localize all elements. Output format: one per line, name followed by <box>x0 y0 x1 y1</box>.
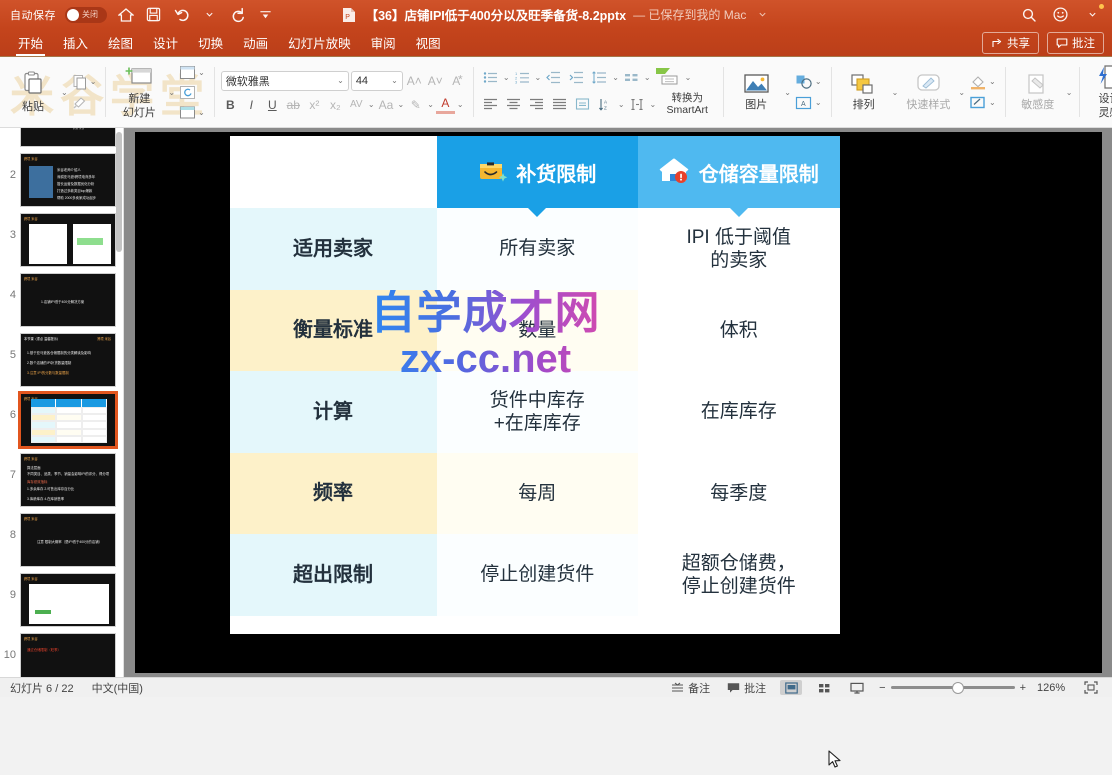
row-label-exceed-limit: 超出限制 <box>230 534 437 616</box>
header-storage-label: 仓储容量限制 <box>699 158 819 187</box>
comment-label: 批注 <box>1072 35 1095 51</box>
smartart-label-line1: 转换为 <box>671 92 703 104</box>
ribbon-toolbar: 米谷学堂 粘贴 ⌄ ⌄ 新建 幻灯片 ⌄ ⌄ <box>0 57 1112 128</box>
cell-storage-line1: IPI 低于阈值 <box>686 227 791 248</box>
font-name-dropdown-icon[interactable]: ⌄ <box>337 76 344 85</box>
thumbnail-item-1[interactable]: 1 店铺IPI低于400以及旺季备货方案 跨境 米谷 <box>0 128 123 150</box>
share-label: 共享 <box>1007 35 1030 51</box>
tab-slideshow[interactable]: 幻灯片放映 <box>278 30 361 55</box>
ribbon-actions: 共享 批注 <box>982 32 1104 54</box>
thumb-7-line-1: 算法层面 <box>27 465 41 470</box>
thumb-4-line-1: 1.店铺IPI低于400分解决方案 <box>41 299 84 304</box>
align-text-vertical-icon[interactable] <box>572 95 593 114</box>
cell-restock-applicable-sellers: 所有卖家 <box>437 208 639 290</box>
zoom-level-label[interactable]: 126% <box>1037 682 1069 694</box>
clear-formatting-icon[interactable]: A⃰ <box>447 72 466 90</box>
justify-icon[interactable] <box>549 95 570 114</box>
thumb-6-table-row <box>31 414 107 421</box>
share-button[interactable]: 共享 <box>982 32 1039 54</box>
sensitivity-group: 敏感度 ⌄ <box>1005 57 1080 127</box>
tab-review[interactable]: 审阅 <box>361 30 406 55</box>
svg-text:Z: Z <box>604 105 607 110</box>
document-name: 【36】店铺IPI低于400分以及旺季备货-8.2pptx <box>366 5 626 24</box>
character-spacing-icon[interactable]: AV <box>347 96 366 114</box>
smiley-account-icon[interactable] <box>1051 5 1070 24</box>
cell-storage-measure-standard: 体积 <box>638 290 840 372</box>
underline-button[interactable]: U <box>263 96 282 114</box>
thumbnail-item-9[interactable]: 9 跨境 米谷 <box>0 570 123 630</box>
font-row-bottom: B I U ab x² x₂ AV ⌄ Aa ⌄ ✎ ⌄ A ⌄ <box>221 96 466 114</box>
thumbnail-number-2: 2 <box>2 153 16 181</box>
thumbnail-preview-6[interactable]: 跨境 米谷 <box>20 393 116 447</box>
format-painter-button[interactable] <box>70 94 99 112</box>
status-bar: 幻灯片 6 / 22 中文(中国) 备注 批注 − + 126% <box>0 677 1112 697</box>
thumbnail-number-10: 10 <box>2 633 16 661</box>
thumbnail-preview-9[interactable]: 跨境 米谷 <box>20 573 116 627</box>
shape-fill-button[interactable]: ⌄ <box>967 73 998 91</box>
cell-restock-line2: +在库库存 <box>494 413 581 434</box>
new-slide-dropdown-icon[interactable]: ⌄ <box>168 88 175 97</box>
thumb-2-line-2: 深耕亚马逊/跨境电商多年 <box>57 174 95 179</box>
thumbnail-item-5[interactable]: 5 本节课（重点 温馨提示） 跨境 米谷 1.基于亚马逊各仓储限制的分类解读及影… <box>0 330 123 390</box>
thumb-6-table-row <box>31 407 107 414</box>
svg-text:3: 3 <box>515 80 518 84</box>
thumbnail-item-6[interactable]: 6 跨境 米谷 <box>0 390 123 450</box>
strikethrough-button[interactable]: ab <box>284 96 303 114</box>
thumb-5-caption: 跨境 米谷 <box>97 336 111 341</box>
cell-storage-exceed-line1: 超额仓储费， <box>682 553 796 574</box>
thumbnail-number-4: 4 <box>2 273 16 301</box>
tab-design[interactable]: 设计 <box>143 30 188 55</box>
language-indicator[interactable]: 中文(中国) <box>92 680 143 696</box>
copy-button[interactable]: ⌄ <box>70 73 99 91</box>
thumb-7-line-2: 不同类目、品类、季节、销量会影响IPI的评分、得分项 <box>27 471 109 476</box>
section-dropdown-icon[interactable]: ⌄ <box>198 108 205 117</box>
comment-button[interactable]: 批注 <box>1047 32 1104 54</box>
thumbnail-scrollbar[interactable] <box>115 128 123 677</box>
thumb-2-line-5: 帮助 2000多卖家成功起步 <box>57 195 96 200</box>
thumbnail-preview-5[interactable]: 本节课（重点 温馨提示） 跨境 米谷 1.基于亚马逊各仓储限制的分类解读及影响 … <box>20 333 116 387</box>
title-bar: 自动保存 关闭 P 【36】店铺IPI低于400分以及旺季备货-8.2pptx … <box>0 0 1112 29</box>
slide-editing-stage[interactable]: 补货限制 仓储容量限制 适用卖家 所有卖家 IPI 低于阈值 <box>124 128 1112 677</box>
picture-label: 图片 <box>745 99 767 111</box>
shape-outline-button[interactable]: ⌄ <box>967 94 998 112</box>
change-case-dropdown-icon[interactable]: ⌄ <box>398 100 405 109</box>
new-slide-button[interactable]: 新建 幻灯片 <box>112 63 166 122</box>
shapes-dropdown-icon[interactable]: ⌄ <box>815 77 822 86</box>
thumb-5-line-1: 本节课（重点 温馨提示） <box>24 336 60 341</box>
change-case-button[interactable]: Aa <box>377 96 396 114</box>
insert-small-buttons: ⌄ A ⌄ <box>793 73 824 112</box>
thumbnail-preview-1[interactable]: 店铺IPI低于400以及旺季备货方案 跨境 米谷 <box>20 128 116 147</box>
character-spacing-dropdown-icon[interactable]: ⌄ <box>368 100 375 109</box>
thumb-7-line-3: 库存绩效指标 <box>27 479 47 484</box>
comparison-table[interactable]: 补货限制 仓储容量限制 适用卖家 所有卖家 IPI 低于阈值 <box>230 136 840 634</box>
svg-text:P: P <box>345 14 350 21</box>
autosave-state-label: 关闭 <box>82 9 98 20</box>
quick-styles-label: 快速样式 <box>906 99 950 111</box>
header-empty-cell <box>230 136 437 208</box>
sensitivity-button[interactable]: 敏感度 <box>1012 71 1064 113</box>
table-row: 衡量标准 数量 体积 <box>230 290 840 372</box>
bullets-icon[interactable] <box>480 68 501 87</box>
smartart-icon[interactable] <box>653 68 683 87</box>
columns-icon[interactable] <box>621 68 642 87</box>
smartart-label-line2: SmartArt <box>667 104 708 116</box>
slide-options: ⌄ ⌄ <box>177 64 207 121</box>
table-row: 适用卖家 所有卖家 IPI 低于阈值 的卖家 <box>230 208 840 290</box>
convert-to-smartart-button[interactable]: 转换为 SmartArt <box>658 92 716 116</box>
reading-view-button[interactable] <box>846 680 868 695</box>
thumb-3-chat-bubble <box>77 238 103 245</box>
thumb-7-line-5: 3.库龄库存 4.在库销售率 <box>27 496 64 501</box>
thumb-1-sub: 跨境 米谷 <box>73 128 84 130</box>
cell-storage-exceed-limit: 超额仓储费， 停止创建货件 <box>638 534 840 616</box>
thumbnail-preview-8[interactable]: 跨境 米谷 注意 限制大概率（是IPI低于400分的店铺） <box>20 513 116 567</box>
sensitivity-label: 敏感度 <box>1021 99 1054 111</box>
comments-label: 批注 <box>744 680 766 696</box>
thumbnail-item-10[interactable]: 10 跨境 米谷 通过仓储限制（旺季） <box>0 630 123 677</box>
zoom-in-button[interactable]: + <box>1020 682 1026 694</box>
font-size-value: 44 <box>356 75 368 87</box>
autosave-label: 自动保存 <box>10 7 56 23</box>
thumb-5-line-3: 2.数个店铺的IPI补货数量限制 <box>27 360 71 365</box>
thumb-9-caption: 跨境 米谷 <box>24 576 38 581</box>
thumbnail-preview-7[interactable]: 跨境 米谷 算法层面 不同类目、品类、季节、销量会影响IPI的评分、得分项 库存… <box>20 453 116 507</box>
thumbnail-scroll-content: 1 店铺IPI低于400以及旺季备货方案 跨境 米谷 2 跨境 米谷 米谷老师介… <box>0 128 123 677</box>
bullets-dropdown-icon[interactable]: ⌄ <box>503 73 510 82</box>
text-direction-dropdown-icon[interactable]: ⌄ <box>650 100 657 109</box>
slide-thumbnail-panel[interactable]: 1 店铺IPI低于400以及旺季备货方案 跨境 米谷 2 跨境 米谷 米谷老师介… <box>0 128 124 677</box>
tab-insert[interactable]: 插入 <box>53 30 98 55</box>
current-slide[interactable]: 补货限制 仓储容量限制 适用卖家 所有卖家 IPI 低于阈值 <box>135 132 1102 673</box>
designer-label-line1: 设计 <box>1098 93 1112 105</box>
reset-slide-button[interactable] <box>177 84 207 101</box>
arrange-button[interactable]: 排列 <box>838 71 890 113</box>
thumbnail-scrollbar-thumb[interactable] <box>116 132 122 252</box>
font-color-button[interactable]: A <box>436 96 455 114</box>
thumb-9-screenshot <box>29 584 109 624</box>
package-box-icon <box>478 159 508 185</box>
bold-button[interactable]: B <box>221 96 240 114</box>
thumbnail-preview-4[interactable]: 跨境 米谷 1.店铺IPI低于400分解决方案 <box>20 273 116 327</box>
document-saved-status: — 已保存到我的 Mac <box>633 6 746 23</box>
shape-fill-dropdown-icon[interactable]: ⌄ <box>989 77 996 86</box>
header-restock-limit: 补货限制 <box>437 136 639 208</box>
cell-storage-exceed-line2: 停止创建货件 <box>682 576 796 597</box>
paste-label: 粘贴 <box>22 101 44 113</box>
zoom-out-button[interactable]: − <box>879 682 885 694</box>
thumb-6-table <box>31 399 107 443</box>
align-left-icon[interactable] <box>480 95 501 114</box>
autosave-toggle-knob <box>67 9 79 21</box>
shape-outline-dropdown-icon[interactable]: ⌄ <box>989 98 996 107</box>
font-size-dropdown-icon[interactable]: ⌄ <box>391 76 398 85</box>
line-spacing-icon[interactable] <box>589 68 610 87</box>
thumb-6-table-row <box>31 436 107 443</box>
header-storage-arrow <box>729 207 749 217</box>
row-label-frequency: 频率 <box>230 453 437 535</box>
font-name-value: 微软雅黑 <box>226 73 270 89</box>
warehouse-alert-icon <box>659 158 691 186</box>
quick-styles-button[interactable]: 快速样式 <box>900 71 956 113</box>
shrink-font-icon[interactable]: A˅ <box>426 72 445 90</box>
thumbnail-number-6: 6 <box>2 393 16 421</box>
autosave-toggle[interactable]: 关闭 <box>65 7 107 23</box>
sensitivity-dropdown-icon[interactable]: ⌄ <box>1066 88 1073 97</box>
row-label-measure-standard: 衡量标准 <box>230 290 437 372</box>
zoom-track[interactable] <box>891 686 1015 689</box>
font-color-dropdown-icon[interactable]: ⌄ <box>457 100 464 109</box>
section-button[interactable]: ⌄ <box>177 104 207 121</box>
thumb-5-line-4: 3.注意 IPI的分数与数量限制 <box>27 370 69 375</box>
table-header-row: 补货限制 仓储容量限制 <box>230 136 840 208</box>
row-label-applicable-sellers: 适用卖家 <box>230 208 437 290</box>
superscript-button[interactable]: x² <box>305 96 324 114</box>
thumb-2-line-1: 米谷老师介绍人 <box>57 167 81 172</box>
zoom-knob[interactable] <box>952 682 964 694</box>
font-size-input[interactable]: 44 ⌄ <box>351 71 403 91</box>
designer-group: 设计 灵感 <box>1079 57 1112 127</box>
tab-draw[interactable]: 绘图 <box>98 30 143 55</box>
account-dropdown-icon[interactable] <box>1083 5 1102 24</box>
subscript-button[interactable]: x₂ <box>326 96 345 114</box>
arrange-dropdown-icon[interactable]: ⌄ <box>892 88 899 97</box>
font-controls: 微软雅黑 ⌄ 44 ⌄ A˄ A˅ A⃰ B I U ab x² x₂ AV ⌄ <box>221 71 466 114</box>
thumb-2-line-4: 打造过多款类目top爆款 <box>57 188 92 193</box>
zoom-slider[interactable]: − + <box>879 682 1026 694</box>
new-slide-label-line2: 幻灯片 <box>123 107 156 119</box>
thumb-9-bar <box>35 610 51 614</box>
thumb-2-photo <box>29 166 53 198</box>
thumbnail-item-3[interactable]: 3 跨境 米谷 <box>0 210 123 270</box>
thumb-10-caption: 跨境 米谷 <box>24 636 38 641</box>
thumb-6-table-row <box>31 429 107 436</box>
text-box-dropdown-icon[interactable]: ⌄ <box>815 98 822 107</box>
clipboard-group: 粘贴 ⌄ ⌄ <box>0 57 105 127</box>
header-restock-label: 补货限制 <box>516 158 596 187</box>
tab-transitions[interactable]: 切换 <box>188 30 233 55</box>
thumb-3-caption: 跨境 米谷 <box>24 216 38 221</box>
row-label-calculation: 计算 <box>230 371 437 453</box>
redo-icon[interactable] <box>228 5 247 24</box>
numbering-icon[interactable]: 123 <box>512 68 533 87</box>
text-sort-icon[interactable]: AZ <box>595 95 616 114</box>
thumbnail-item-4[interactable]: 4 跨境 米谷 1.店铺IPI低于400分解决方案 <box>0 270 123 330</box>
decrease-indent-icon[interactable] <box>543 68 564 87</box>
ribbon-tab-bar: 开始 插入 绘图 设计 切换 动画 幻灯片放映 审阅 视图 共享 批注 <box>0 29 1112 57</box>
columns-dropdown-icon[interactable]: ⌄ <box>644 73 651 82</box>
thumb-8-line-1: 注意 限制大概率（是IPI低于400分的店铺） <box>37 539 102 544</box>
thumb-2-caption: 跨境 米谷 <box>24 156 38 161</box>
font-row-top: 微软雅黑 ⌄ 44 ⌄ A˄ A˅ A⃰ <box>221 71 466 91</box>
thumbnail-item-2[interactable]: 2 跨境 米谷 米谷老师介绍人 深耕亚马逊/跨境电商多年 擅长运营及数据优化分析… <box>0 150 123 210</box>
tab-view[interactable]: 视图 <box>406 30 451 55</box>
designer-button[interactable]: 设计 灵感 <box>1086 63 1112 122</box>
cell-restock-measure-standard: 数量 <box>437 290 639 372</box>
text-box-button[interactable]: A ⌄ <box>793 94 824 112</box>
title-bar-right <box>1019 5 1102 24</box>
svg-text:A: A <box>604 99 608 104</box>
drawing-group: 排列 ⌄ 快速样式 ⌄ ⌄ ⌄ <box>831 57 1005 127</box>
title-dropdown-icon[interactable] <box>753 5 772 24</box>
slide-sorter-button[interactable] <box>813 680 835 695</box>
slide-layout-button[interactable]: ⌄ <box>177 64 207 81</box>
thumbnail-number-9: 9 <box>2 573 16 601</box>
mouse-cursor <box>828 750 846 770</box>
tab-animations[interactable]: 动画 <box>233 30 278 55</box>
paragraph-controls: ⌄ 123 ⌄ ⌄ ⌄ <box>480 68 716 116</box>
quick-access-toolbar: 自动保存 关闭 <box>10 5 275 24</box>
text-sort-dropdown-icon[interactable]: ⌄ <box>618 100 625 109</box>
thumb-6-table-head <box>31 399 107 407</box>
thumb-10-line-1: 通过仓储限制（旺季） <box>27 647 61 652</box>
status-bar-right: 备注 批注 − + 126% <box>668 679 1102 697</box>
thumbnail-number-8: 8 <box>2 513 16 541</box>
thumb-4-caption: 跨境 米谷 <box>24 276 38 281</box>
thumbnail-number-7: 7 <box>2 453 16 481</box>
cell-restock-line1: 货件中库存 <box>490 390 585 411</box>
cell-restock-exceed-limit: 停止创建货件 <box>437 534 639 616</box>
thumb-6-table-row <box>31 421 107 428</box>
shape-format-buttons: ⌄ ⌄ <box>967 73 998 112</box>
thumb-3-screenshot-left <box>29 224 67 264</box>
header-storage-limit: 仓储容量限制 <box>638 136 840 208</box>
slide-counter: 幻灯片 6 / 22 <box>10 680 74 696</box>
table-row: 计算 货件中库存 +在库库存 在库库存 <box>230 371 840 453</box>
thumbnail-preview-2[interactable]: 跨境 米谷 米谷老师介绍人 深耕亚马逊/跨境电商多年 擅长运营及数据优化分析 打… <box>20 153 116 207</box>
main-area: 1 店铺IPI低于400以及旺季备货方案 跨境 米谷 2 跨境 米谷 米谷老师介… <box>0 128 1112 677</box>
cell-storage-calculation: 在库库存 <box>638 371 840 453</box>
powerpoint-doc-icon: P <box>340 5 359 24</box>
thumbnail-item-7[interactable]: 7 跨境 米谷 算法层面 不同类目、品类、季节、销量会影响IPI的评分、得分项 … <box>0 450 123 510</box>
highlight-dropdown-icon[interactable]: ⌄ <box>427 100 434 109</box>
cell-storage-applicable-sellers: IPI 低于阈值 的卖家 <box>638 208 840 290</box>
increase-indent-icon[interactable] <box>566 68 587 87</box>
cell-storage-line2: 的卖家 <box>710 250 767 271</box>
arrange-label: 排列 <box>853 99 875 111</box>
cell-restock-calculation: 货件中库存 +在库库存 <box>437 371 639 453</box>
thumbnail-item-8[interactable]: 8 跨境 米谷 注意 限制大概率（是IPI低于400分的店铺） <box>0 510 123 570</box>
fit-slide-button[interactable] <box>1080 680 1102 695</box>
insert-group: 图片 ⌄ ⌄ A ⌄ <box>723 57 830 127</box>
comments-button[interactable]: 批注 <box>724 679 769 697</box>
font-group: 微软雅黑 ⌄ 44 ⌄ A˄ A˅ A⃰ B I U ab x² x₂ AV ⌄ <box>214 57 473 127</box>
thumb-8-caption: 跨境 米谷 <box>24 516 38 521</box>
new-slide-label-line1: 新建 <box>128 93 150 105</box>
table-row: 超出限制 停止创建货件 超额仓储费， 停止创建货件 <box>230 534 840 616</box>
search-icon[interactable] <box>1019 5 1038 24</box>
text-direction-icon[interactable] <box>627 95 648 114</box>
clipboard-small-buttons: ⌄ <box>70 73 99 112</box>
thumbnail-preview-10[interactable]: 跨境 米谷 通过仓储限制（旺季） <box>20 633 116 677</box>
picture-button[interactable]: 图片 <box>730 71 782 113</box>
normal-view-button[interactable] <box>780 680 802 695</box>
grow-font-icon[interactable]: A˄ <box>405 72 424 90</box>
line-spacing-dropdown-icon[interactable]: ⌄ <box>612 73 619 82</box>
notes-button[interactable]: 备注 <box>668 679 713 697</box>
thumb-7-caption: 跨境 米谷 <box>24 456 38 461</box>
tab-home[interactable]: 开始 <box>8 30 53 55</box>
cell-restock-frequency: 每周 <box>437 453 639 535</box>
thumbnail-number-5: 5 <box>2 333 16 361</box>
svg-text:A: A <box>801 101 806 108</box>
align-right-icon[interactable] <box>526 95 547 114</box>
paragraph-row-top: ⌄ 123 ⌄ ⌄ ⌄ <box>480 68 716 87</box>
notes-label: 备注 <box>688 680 710 696</box>
slides-group: 新建 幻灯片 ⌄ ⌄ ⌄ <box>105 57 213 127</box>
table-row: 频率 每周 每季度 <box>230 453 840 535</box>
thumb-2-line-3: 擅长运营及数据优化分析 <box>57 181 94 186</box>
text-highlight-icon[interactable]: ✎ <box>406 96 425 114</box>
smartart-dropdown-icon[interactable]: ⌄ <box>685 73 692 82</box>
home-icon[interactable] <box>116 5 135 24</box>
cell-storage-frequency: 每季度 <box>638 453 840 535</box>
undo-icon[interactable] <box>172 5 191 24</box>
paste-button[interactable]: 粘贴 <box>7 69 59 115</box>
slide-layout-dropdown-icon[interactable]: ⌄ <box>198 68 205 77</box>
thumbnail-number-3: 3 <box>2 213 16 241</box>
align-center-icon[interactable] <box>503 95 524 114</box>
designer-label-line2: 灵感 <box>1098 107 1112 119</box>
customize-toolbar-icon[interactable] <box>256 5 275 24</box>
thumb-5-line-2: 1.基于亚马逊各仓储限制的分类解读及影响 <box>27 350 91 355</box>
paste-dropdown-icon[interactable]: ⌄ <box>61 88 68 97</box>
quick-styles-dropdown-icon[interactable]: ⌄ <box>958 88 965 97</box>
shapes-button[interactable]: ⌄ <box>793 73 824 91</box>
undo-dropdown-icon[interactable] <box>200 5 219 24</box>
numbering-dropdown-icon[interactable]: ⌄ <box>535 73 542 82</box>
paragraph-row-bottom: AZ ⌄ ⌄ 转换为 SmartArt <box>480 92 716 116</box>
copy-dropdown-icon[interactable]: ⌄ <box>90 77 97 86</box>
header-restock-arrow <box>527 207 547 217</box>
italic-button[interactable]: I <box>242 96 261 114</box>
thumb-7-line-4: 1.多余库存 2.可售出库存百分比 <box>27 486 74 491</box>
save-icon[interactable] <box>144 5 163 24</box>
paragraph-group: ⌄ 123 ⌄ ⌄ ⌄ <box>473 57 723 127</box>
picture-dropdown-icon[interactable]: ⌄ <box>784 88 791 97</box>
thumbnail-preview-3[interactable]: 跨境 米谷 <box>20 213 116 267</box>
font-name-input[interactable]: 微软雅黑 ⌄ <box>221 71 349 91</box>
